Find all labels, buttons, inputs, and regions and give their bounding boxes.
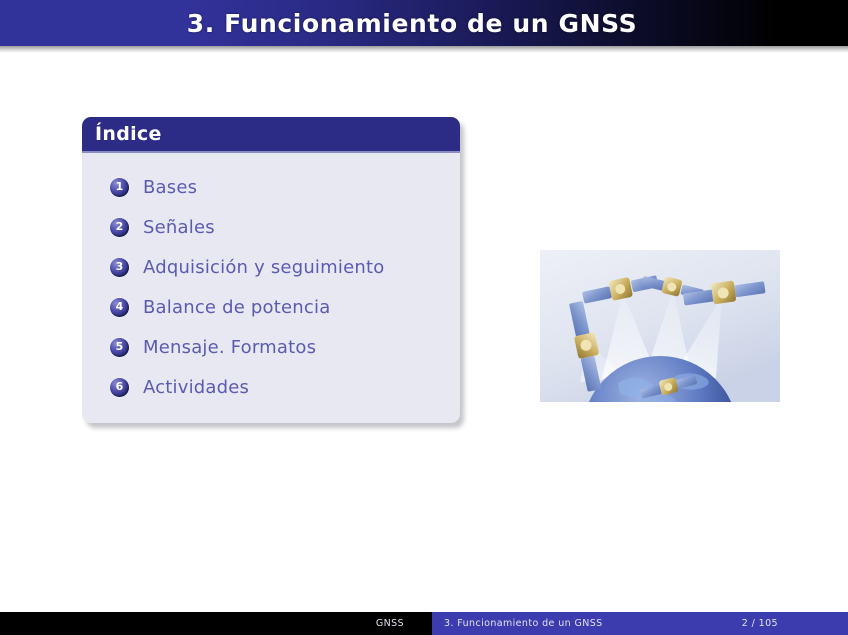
- toc-item-label: Adquisición y seguimiento: [143, 257, 384, 278]
- toc-item-senales[interactable]: 2 Señales: [82, 207, 460, 247]
- gnss-satellites-earth-image: [540, 250, 780, 402]
- numbered-bullet-icon: 6: [110, 378, 129, 397]
- toc-item-adquisicion-y-seguimiento[interactable]: 3 Adquisición y seguimiento: [82, 247, 460, 287]
- toc-item-label: Mensaje. Formatos: [143, 337, 316, 358]
- numbered-bullet-icon: 3: [110, 258, 129, 277]
- toc-item-number: 2: [116, 221, 124, 232]
- page-title: 3. Funcionamiento de un GNSS: [187, 9, 637, 38]
- toc-item-number: 6: [116, 381, 124, 392]
- toc-item-label: Balance de potencia: [143, 297, 330, 318]
- toc-item-number: 3: [116, 261, 124, 272]
- footer-right-section: 3. Funcionamiento de un GNSS 2 / 105: [432, 612, 848, 635]
- slide-title-banner: 3. Funcionamiento de un GNSS: [0, 0, 848, 46]
- footer-page-number: 2 / 105: [742, 618, 778, 629]
- gnss-illustration-svg: [540, 250, 780, 402]
- toc-item-number: 1: [116, 181, 124, 192]
- toc-item-label: Bases: [143, 177, 197, 198]
- toc-item-bases[interactable]: 1 Bases: [82, 167, 460, 207]
- numbered-bullet-icon: 2: [110, 218, 129, 237]
- title-underline-divider: [0, 46, 848, 53]
- index-panel-title: Índice: [95, 123, 162, 145]
- toc-item-label: Señales: [143, 217, 215, 238]
- numbered-bullet-icon: 1: [110, 178, 129, 197]
- footer-section-label: 3. Funcionamiento de un GNSS: [444, 618, 603, 629]
- toc-item-actividades[interactable]: 6 Actividades: [82, 367, 460, 407]
- numbered-bullet-icon: 5: [110, 338, 129, 357]
- index-panel-header: Índice: [82, 117, 460, 153]
- slide-footer: GNSS 3. Funcionamiento de un GNSS 2 / 10…: [0, 612, 848, 635]
- toc-item-balance-de-potencia[interactable]: 4 Balance de potencia: [82, 287, 460, 327]
- footer-course-label: GNSS: [376, 618, 404, 629]
- toc-item-number: 5: [116, 341, 124, 352]
- toc-item-number: 4: [116, 301, 124, 312]
- footer-left-section: GNSS: [0, 612, 432, 635]
- toc-item-label: Actividades: [143, 377, 249, 398]
- toc-item-mensaje-formatos[interactable]: 5 Mensaje. Formatos: [82, 327, 460, 367]
- index-panel: Índice 1 Bases 2 Señales 3 Adquisición y…: [82, 117, 460, 423]
- index-panel-body: 1 Bases 2 Señales 3 Adquisición y seguim…: [82, 153, 460, 423]
- numbered-bullet-icon: 4: [110, 298, 129, 317]
